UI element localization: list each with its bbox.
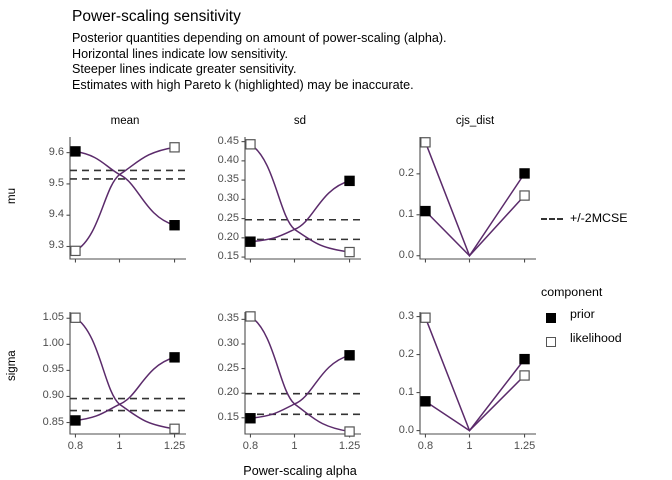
- data-point-prior: [71, 147, 80, 156]
- x-tick-label: 1: [97, 440, 141, 452]
- chart-title: Power-scaling sensitivity: [72, 8, 241, 26]
- data-point-likelihood: [520, 191, 529, 200]
- y-tick-label: 0.30: [189, 337, 239, 349]
- y-tick-label: 1.05: [14, 311, 64, 323]
- facet-strip-mean: mean: [70, 115, 180, 127]
- y-tick-label: 0.35: [189, 312, 239, 324]
- y-tick-label: 0.25: [189, 362, 239, 374]
- legend-label-likelihood: likelihood: [570, 331, 622, 345]
- y-tick-label: 0.2: [364, 348, 414, 360]
- data-point-prior: [246, 237, 255, 246]
- data-point-likelihood: [421, 138, 430, 147]
- panel-mu-cjs_dist: [420, 137, 530, 259]
- y-tick-label: 0.35: [189, 173, 239, 185]
- subtitle-line-3: Steeper lines indicate greater sensitivi…: [72, 62, 447, 78]
- data-point-likelihood: [520, 371, 529, 380]
- data-point-likelihood: [246, 312, 255, 321]
- y-tick-label: 0.95: [14, 363, 64, 375]
- panel-axis-lines: [420, 312, 536, 434]
- x-tick-label: 1: [447, 440, 491, 452]
- x-tick-label: 1.25: [503, 440, 547, 452]
- facet-strip-mu: mu: [2, 190, 22, 202]
- x-tick-label: 0.8: [53, 440, 97, 452]
- subtitle-line-2: Horizontal lines indicate low sensitivit…: [72, 47, 447, 63]
- legend-title-component: component: [541, 285, 602, 299]
- y-tick-label: 0.1: [364, 386, 414, 398]
- panel-sigma-mean: [70, 312, 180, 434]
- data-point-prior: [71, 416, 80, 425]
- data-point-prior: [170, 353, 179, 362]
- y-tick-label: 0.45: [189, 135, 239, 147]
- y-tick-label: 0.2: [364, 167, 414, 179]
- data-point-prior: [246, 414, 255, 423]
- panel-canvas: [420, 137, 542, 271]
- data-point-likelihood: [170, 424, 179, 433]
- series-line-likelihood: [250, 144, 349, 252]
- series-line-prior: [425, 173, 524, 255]
- y-tick-label: 0.15: [189, 250, 239, 262]
- panel-sigma-cjs_dist: [420, 312, 530, 434]
- x-tick-label: 1.25: [328, 440, 372, 452]
- data-point-prior: [520, 355, 529, 364]
- likelihood-square-icon: [546, 337, 556, 347]
- y-tick-label: 0.85: [14, 416, 64, 428]
- data-point-prior: [345, 351, 354, 360]
- y-tick-label: 0.30: [189, 192, 239, 204]
- series-line-likelihood: [75, 147, 174, 251]
- panel-mu-sd: [245, 137, 355, 259]
- chart-subtitle: Posterior quantities depending on amount…: [72, 31, 447, 93]
- y-tick-label: 0.40: [189, 154, 239, 166]
- data-point-prior: [421, 397, 430, 406]
- series-line-likelihood: [425, 142, 524, 255]
- panel-canvas: [245, 312, 367, 446]
- legend-label-mcse: +/-2MCSE: [570, 211, 628, 225]
- panel-axis-lines: [420, 137, 536, 259]
- facet-strip-sd: sd: [245, 115, 355, 127]
- y-tick-label: 0.15: [189, 411, 239, 423]
- data-point-likelihood: [71, 313, 80, 322]
- series-line-prior: [425, 359, 524, 430]
- data-point-likelihood: [421, 313, 430, 322]
- data-point-likelihood: [170, 143, 179, 152]
- series-line-likelihood: [425, 318, 524, 431]
- y-tick-label: 0.20: [189, 231, 239, 243]
- mcse-dash-icon: [541, 218, 563, 220]
- panel-canvas: [70, 137, 192, 271]
- y-tick-label: 0.20: [189, 386, 239, 398]
- y-tick-label: 9.5: [14, 177, 64, 189]
- y-tick-label: 0.0: [364, 424, 414, 436]
- x-axis-title: Power-scaling alpha: [70, 464, 530, 478]
- y-tick-label: 1.00: [14, 337, 64, 349]
- facet-strip-cjs-dist: cjs_dist: [420, 115, 530, 127]
- y-tick-label: 0.0: [364, 249, 414, 261]
- series-line-prior: [75, 151, 174, 225]
- x-tick-label: 0.8: [228, 440, 272, 452]
- y-tick-label: 9.4: [14, 208, 64, 220]
- y-tick-label: 0.1: [364, 208, 414, 220]
- y-tick-label: 9.6: [14, 146, 64, 158]
- data-point-likelihood: [345, 427, 354, 436]
- data-point-likelihood: [246, 140, 255, 149]
- data-point-prior: [520, 169, 529, 178]
- data-point-likelihood: [345, 247, 354, 256]
- subtitle-line-4: Estimates with high Pareto k (highlighte…: [72, 78, 447, 94]
- data-point-prior: [421, 207, 430, 216]
- panel-sigma-sd: [245, 312, 355, 434]
- y-tick-label: 0.90: [14, 389, 64, 401]
- data-point-prior: [170, 221, 179, 230]
- y-tick-label: 0.3: [364, 310, 414, 322]
- data-point-likelihood: [71, 246, 80, 255]
- series-line-likelihood: [75, 318, 174, 429]
- prior-square-icon: [546, 313, 556, 323]
- x-tick-label: 0.8: [403, 440, 447, 452]
- subtitle-line-1: Posterior quantities depending on amount…: [72, 31, 447, 47]
- facet-strip-mu-label: mu: [6, 186, 18, 206]
- x-tick-label: 1: [272, 440, 316, 452]
- data-point-prior: [345, 176, 354, 185]
- x-tick-label: 1.25: [153, 440, 197, 452]
- legend-label-prior: prior: [570, 307, 595, 321]
- y-tick-label: 9.3: [14, 239, 64, 251]
- panel-canvas: [420, 312, 542, 446]
- y-tick-label: 0.25: [189, 212, 239, 224]
- panel-mu-mean: [70, 137, 180, 259]
- panel-canvas: [245, 137, 367, 271]
- panel-canvas: [70, 312, 192, 446]
